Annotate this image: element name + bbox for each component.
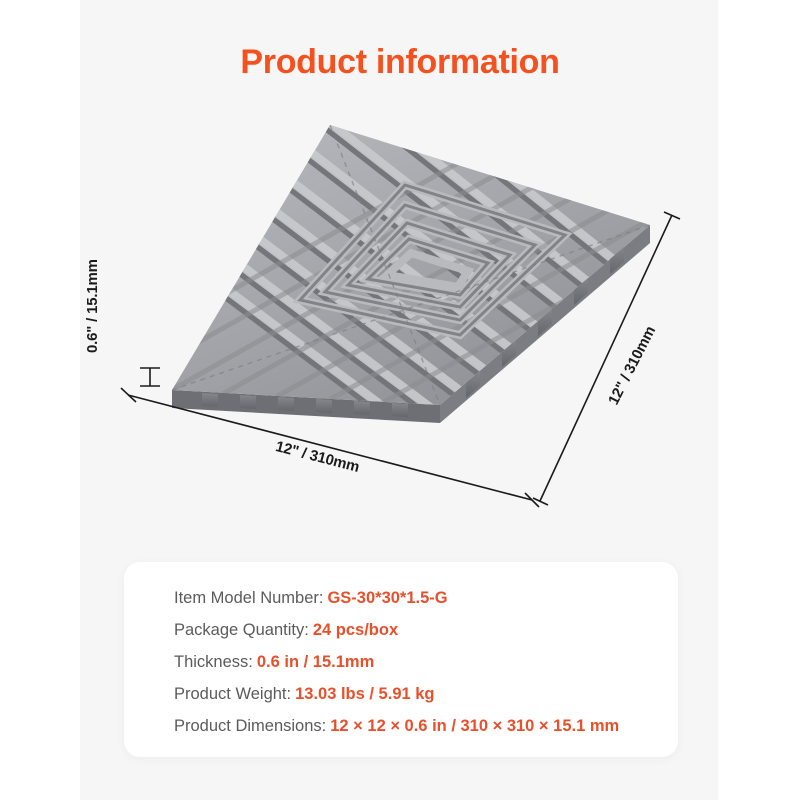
product-figure: 0.6" / 15.1mm 12" / 310mm 12" / 310mm (110, 105, 710, 535)
spec-value: GS-30*30*1.5-G (327, 589, 447, 607)
tile-illustration (110, 105, 710, 535)
spec-value: 24 pcs/box (313, 621, 398, 639)
spec-label: Item Model Number: (174, 589, 323, 607)
dimension-thickness-caliper (140, 368, 160, 386)
spec-row-item-model-number: Item Model Number:GS-30*30*1.5-G (174, 582, 660, 614)
spec-label: Package Quantity: (174, 621, 309, 639)
spec-value: 12 × 12 × 0.6 in / 310 × 310 × 15.1 mm (330, 717, 619, 735)
tile-body (110, 105, 710, 525)
spec-label: Thickness: (174, 653, 253, 671)
spec-value: 0.6 in / 15.1mm (257, 653, 374, 671)
spec-label: Product Weight: (174, 685, 291, 703)
spec-value: 13.03 lbs / 5.91 kg (295, 685, 434, 703)
specification-card: Item Model Number:GS-30*30*1.5-G Package… (124, 562, 678, 757)
spec-row-thickness: Thickness:0.6 in / 15.1mm (174, 646, 660, 678)
spec-row-package-quantity: Package Quantity:24 pcs/box (174, 614, 660, 646)
page-title: Product information (0, 43, 800, 82)
specification-list: Item Model Number:GS-30*30*1.5-G Package… (174, 582, 660, 742)
spec-row-product-weight: Product Weight:13.03 lbs / 5.91 kg (174, 678, 660, 710)
spec-label: Product Dimensions: (174, 717, 326, 735)
spec-row-product-dimensions: Product Dimensions:12 × 12 × 0.6 in / 31… (174, 710, 660, 742)
product-information-page: Product information (0, 0, 800, 800)
dimension-label-thickness: 0.6" / 15.1mm (84, 259, 101, 353)
